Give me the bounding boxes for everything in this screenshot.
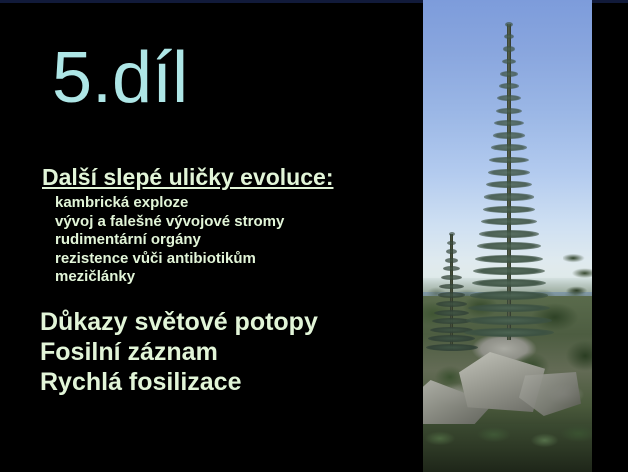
secondary-tree-branch-tier	[445, 258, 459, 263]
list-item: kambrická exploze	[55, 194, 284, 213]
tree-branch-tier	[470, 291, 549, 300]
tree-branch-tier	[496, 108, 522, 114]
tree-branch-tier	[483, 206, 536, 213]
tree-branch-tier	[497, 95, 520, 101]
right-edge-shrub	[563, 250, 592, 308]
tree-branch-tier	[477, 242, 541, 250]
tree-branch-tier	[491, 144, 527, 151]
list-item: vývoj a falešné vývojové stromy	[55, 213, 284, 232]
tree-branch-tier	[488, 169, 530, 176]
tree-branch-tier	[494, 120, 523, 126]
tree-branch-tier	[468, 304, 550, 313]
secondary-tree-branch-tier	[438, 292, 466, 298]
secondary-tree-branch-tier	[441, 275, 462, 280]
secondary-tree-branch-tier	[426, 344, 478, 351]
tree-branch-tier	[489, 157, 528, 164]
conifer-tree-landscape-photo	[423, 0, 592, 472]
slide-subheading: Další slepé uličky evoluce:	[42, 164, 333, 191]
list-item: rezistence vůči antibiotikům	[55, 250, 284, 269]
tree-branch-tier	[503, 46, 515, 51]
main-conifer-tree	[463, 18, 555, 338]
secondary-tree-branch-tier	[439, 284, 463, 289]
tree-branch-tier	[475, 255, 542, 263]
tree-branch-tier	[500, 71, 517, 77]
topic-heading: Důkazy světové potopy	[40, 307, 318, 337]
tree-branch-tier	[466, 316, 552, 325]
tree-branch-tier	[472, 279, 547, 287]
tree-branch-tier	[505, 22, 513, 27]
tree-branch-tier	[464, 328, 554, 337]
tree-branch-tier	[504, 34, 514, 39]
tree-branch-tier	[484, 193, 533, 200]
tree-branch-tier	[499, 83, 519, 89]
secondary-tree-branch-tier	[449, 232, 455, 236]
list-item: mezičlánky	[55, 268, 284, 287]
topic-heading-list: Důkazy světové potopy Fosilní záznam Ryc…	[40, 307, 318, 397]
bullet-list: kambrická exploze vývoj a falešné vývojo…	[55, 194, 284, 287]
presentation-slide: 5.díl Další slepé uličky evoluce: kambri…	[0, 0, 628, 472]
tree-branch-tier	[502, 59, 517, 65]
topic-heading: Fosilní záznam	[40, 337, 318, 367]
foreground-grass	[423, 424, 592, 472]
tree-branch-tier	[473, 267, 544, 275]
tree-branch-tier	[481, 218, 537, 226]
tree-branch-tier	[486, 181, 532, 188]
topic-heading: Rychlá fosilizace	[40, 367, 318, 397]
secondary-tree-branch-tier	[447, 241, 455, 245]
list-item: rudimentární orgány	[55, 231, 284, 250]
secondary-tree-branch-tier	[443, 266, 460, 271]
slide-title: 5.díl	[52, 42, 188, 114]
tree-branch-tier	[493, 132, 526, 138]
secondary-tree-branch-tier	[446, 249, 457, 254]
tree-branch-tier	[479, 230, 539, 238]
